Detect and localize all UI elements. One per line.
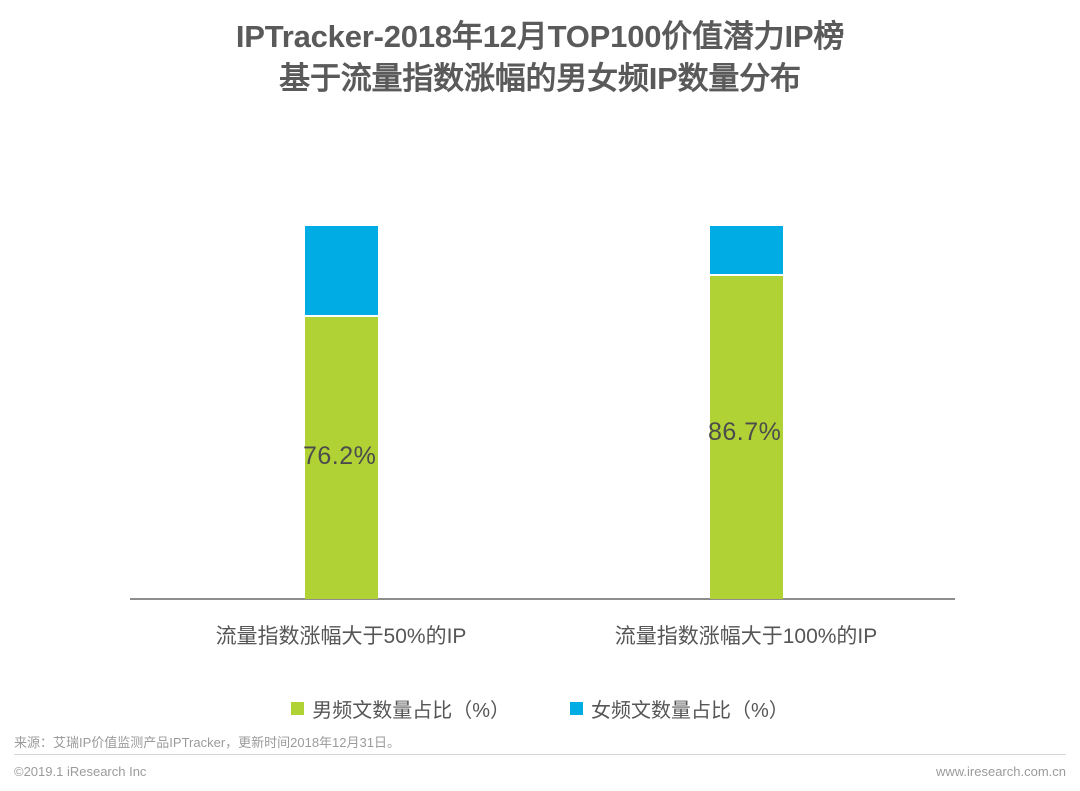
source-note: 来源：艾瑞IP价值监测产品IPTracker，更新时间2018年12月31日。	[14, 732, 400, 751]
legend-label-female: 女频文数量占比（%）	[591, 694, 789, 723]
footer-divider	[14, 754, 1066, 755]
legend-swatch-green-icon	[291, 702, 304, 715]
legend-item-female[interactable]: 女频文数量占比（%）	[570, 694, 789, 723]
bar-segment-female-2[interactable]	[710, 226, 783, 274]
category-label-2: 流量指数涨幅大于100%的IP	[536, 620, 956, 650]
bar-stack-1: 76.2%	[305, 226, 378, 599]
website-url: www.iresearch.com.cn	[936, 764, 1066, 779]
x-axis-line	[130, 598, 955, 600]
bar-stack-2: 86.7%	[710, 226, 783, 599]
bar-value-label-2: 86.7%	[708, 418, 781, 447]
bar-value-label-1: 76.2%	[303, 442, 376, 471]
category-label-1: 流量指数涨幅大于50%的IP	[131, 620, 551, 650]
bar-segment-female-1[interactable]	[305, 226, 378, 315]
legend-label-male: 男频文数量占比（%）	[312, 694, 510, 723]
chart-legend: 男频文数量占比（%） 女频文数量占比（%）	[0, 694, 1080, 723]
legend-swatch-blue-icon	[570, 702, 583, 715]
legend-item-male[interactable]: 男频文数量占比（%）	[291, 694, 510, 723]
stacked-bar-chart: 76.2% 流量指数涨幅大于50%的IP 86.7% 流量指数涨幅大于100%的…	[0, 0, 1080, 791]
copyright-text: ©2019.1 iResearch Inc	[14, 764, 146, 779]
